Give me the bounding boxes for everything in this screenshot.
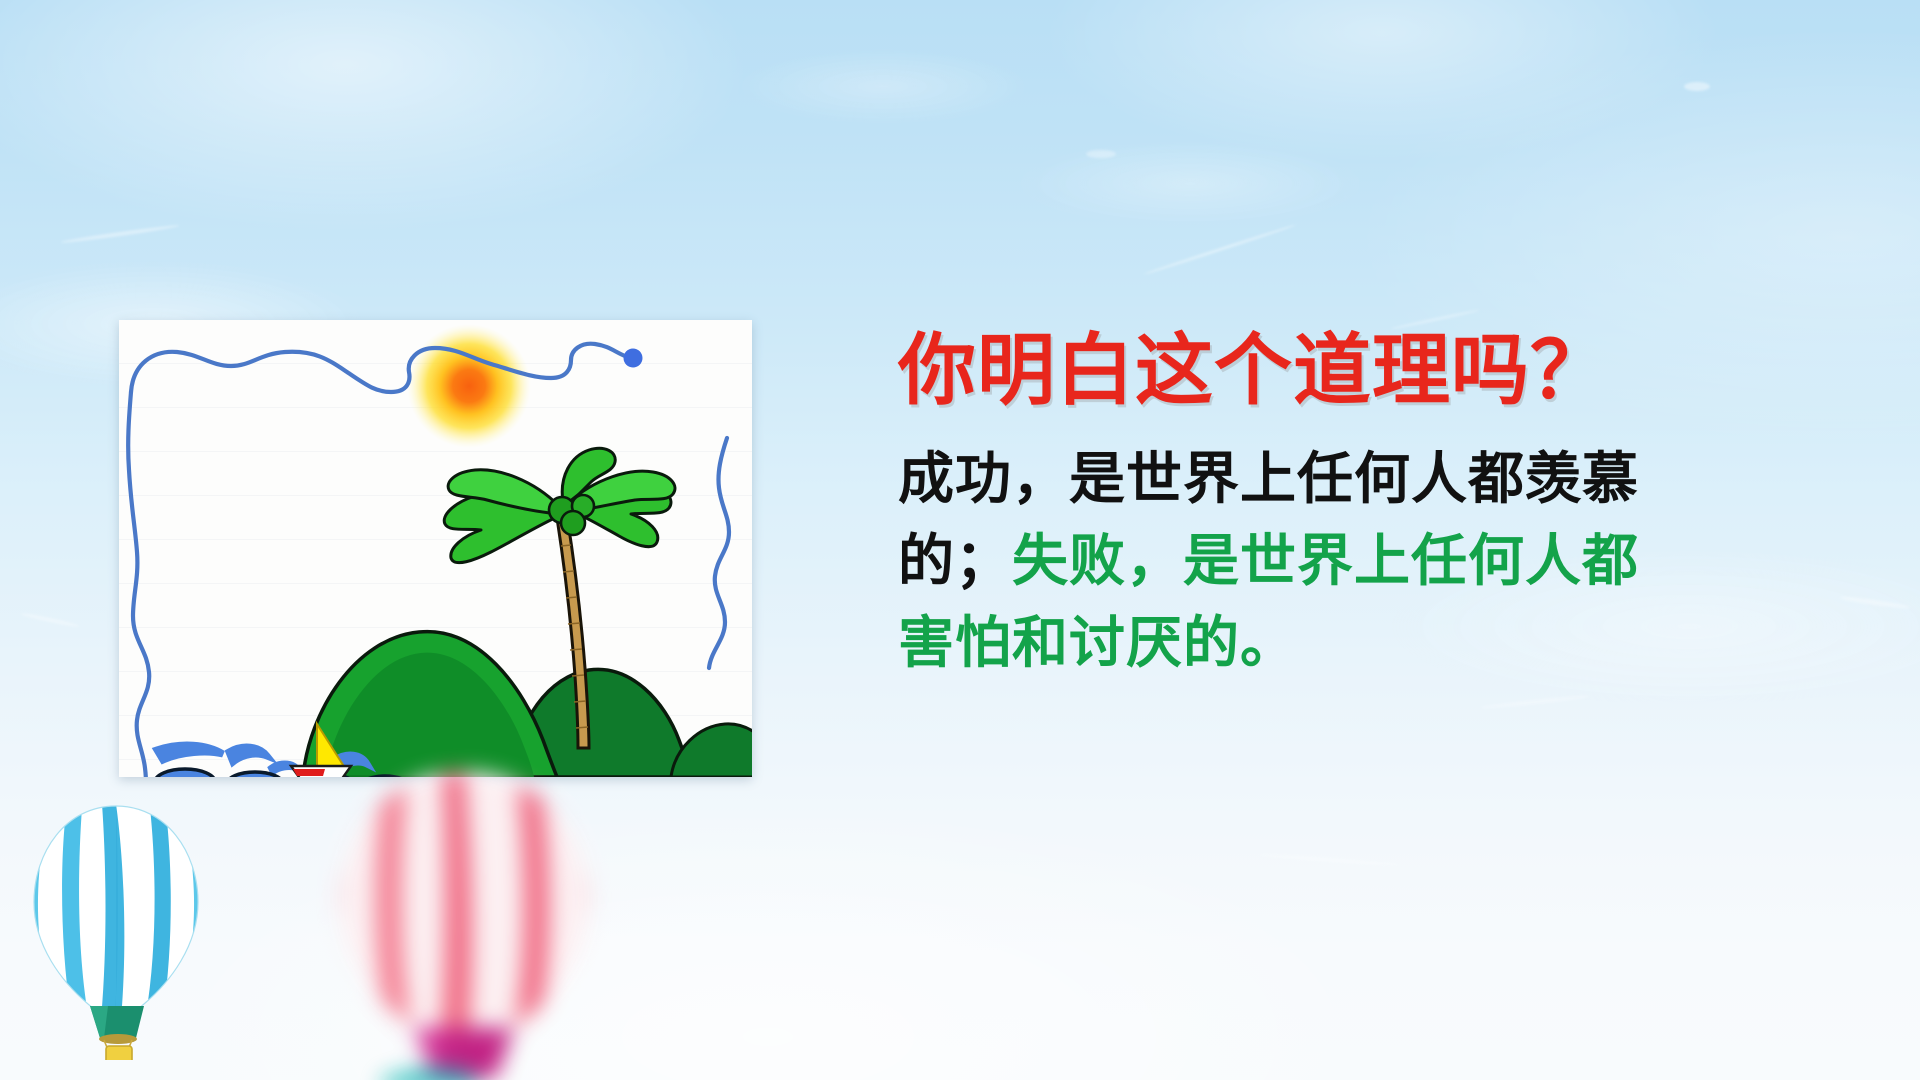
page-title: 你明白这个道理吗？ [898,330,1818,413]
slide-canvas: 你明白这个道理吗？ 成功，是世界上任何人都羡慕 的；失败，是世界上任何人都 害怕… [0,0,1920,1080]
coconut [561,511,585,535]
hill-small-right [671,724,752,777]
balloon-basket [106,1046,132,1060]
body-line-3: 害怕和讨厌的。 [898,603,1818,685]
card-artwork [119,320,752,777]
body-line-2: 的；失败，是世界上任何人都 [898,521,1818,603]
body-line-3-green-text: 害怕和讨厌的。 [898,611,1297,676]
cloud-streak [1684,82,1710,91]
hot-air-balloon-pink [296,760,626,1080]
body-line-1-text: 成功，是世界上任何人都羡慕 [898,447,1639,512]
cloud-streak [60,224,179,245]
illustration-card [119,320,752,777]
cloud-streak [1480,694,1590,709]
cloud-streak [1143,223,1296,275]
body-line-2-green-text: 失败，是世界上任何人都 [1012,529,1639,594]
body-line-1: 成功，是世界上任何人都羡慕 [898,439,1818,521]
sun-icon [407,324,531,448]
doodle-border-right [709,438,729,668]
doodle-border-top [131,344,625,392]
doodle-border-left [128,392,149,777]
body-copy: 成功，是世界上任何人都羡慕 的；失败，是世界上任何人都 害怕和讨厌的。 [898,439,1818,686]
wave-crest [155,769,215,777]
doodle-dot [624,349,643,368]
cloud-streak [1260,853,1400,867]
hot-air-balloon-blue [16,800,216,1060]
cloud-streak [1840,595,1910,610]
text-block: 你明白这个道理吗？ 成功，是世界上任何人都羡慕 的；失败，是世界上任何人都 害怕… [898,330,1818,686]
cloud-streak [20,612,80,628]
cloud-streak [1086,150,1116,158]
body-line-2-black-text: 的； [898,529,1012,594]
